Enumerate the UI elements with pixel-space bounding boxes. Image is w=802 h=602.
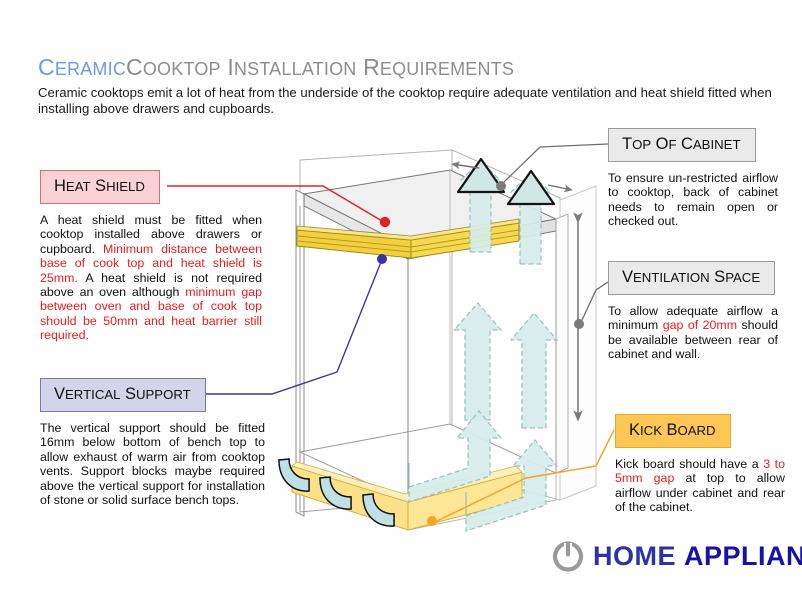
callout-kick-board: KICK BOARD Kick board should have a 3 to… bbox=[615, 414, 791, 515]
airflow-arrow-mid-right bbox=[511, 313, 557, 428]
callout-ventilation-space: VENTILATION SPACE To allow adequate airf… bbox=[608, 261, 783, 362]
callout-top-of-cabinet-body: To ensure un-restricted airflow to cookt… bbox=[608, 171, 778, 229]
brand-word-home: HOME bbox=[593, 541, 676, 571]
brand-logo-text: HOME APPLIANCES bbox=[593, 543, 802, 570]
kick-board-text-1: Kick board should have a bbox=[615, 457, 763, 471]
power-icon bbox=[552, 540, 584, 572]
callout-vertical-support-body: The vertical support should be fitted 16… bbox=[40, 421, 265, 507]
callout-ventilation-space-label[interactable]: VENTILATION SPACE bbox=[608, 261, 775, 295]
callout-top-of-cabinet: TOP OF CABINET To ensure un-restricted a… bbox=[608, 128, 783, 229]
callout-heat-shield-body: A heat shield must be fitted when cookto… bbox=[40, 213, 262, 343]
ventilation-text-red: gap of 20mm bbox=[663, 318, 737, 332]
brand-logo: HOME APPLIANCES bbox=[552, 540, 802, 572]
callout-heat-shield-label[interactable]: HEAT SHIELD bbox=[40, 170, 160, 204]
callout-vertical-support: VERTICAL SUPPORT The vertical support sh… bbox=[40, 378, 268, 507]
callout-heat-shield: HEAT SHIELD A heat shield must be fitted… bbox=[40, 170, 265, 343]
brand-word-appliances: APPLIANCES bbox=[684, 541, 802, 571]
top-arrowhead-right bbox=[508, 171, 554, 204]
airflow-arrow-mid-left bbox=[454, 303, 501, 420]
callout-kick-board-body: Kick board should have a 3 to 5mm gap at… bbox=[615, 457, 785, 515]
callout-vertical-support-label[interactable]: VERTICAL SUPPORT bbox=[40, 378, 206, 412]
page-canvas: CERAMICCOOKTOP INSTALLATION REQUIREMENTS… bbox=[0, 0, 802, 602]
leader-top-of-cabinet bbox=[496, 144, 608, 191]
callout-top-of-cabinet-label[interactable]: TOP OF CABINET bbox=[608, 128, 756, 162]
callout-kick-board-label[interactable]: KICK BOARD bbox=[615, 414, 731, 448]
callout-ventilation-space-body: To allow adequate airflow a minimum gap … bbox=[608, 304, 778, 362]
